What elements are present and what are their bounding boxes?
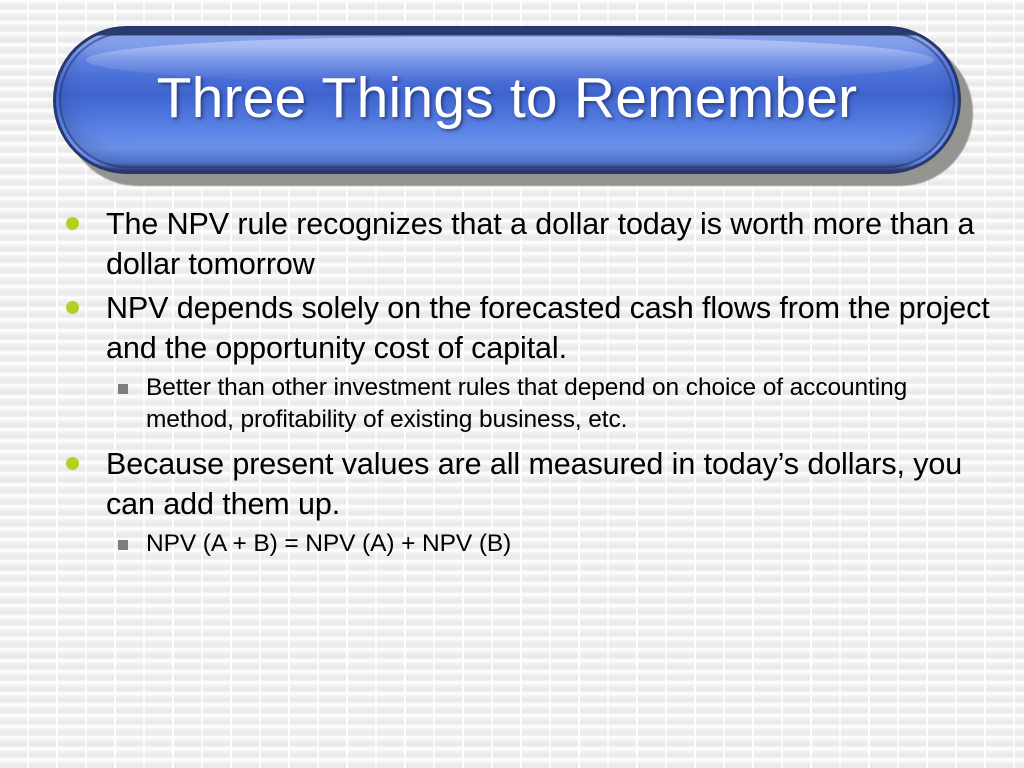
bullet-square-icon bbox=[118, 384, 128, 394]
bullet-item-3: Because present values are all measured … bbox=[58, 444, 998, 524]
sub-bullet-item-1: Better than other investment rules that … bbox=[58, 372, 998, 436]
slide-canvas: Three Things to Remember The NPV rule re… bbox=[0, 0, 1024, 768]
bullet-item-1: The NPV rule recognizes that a dollar to… bbox=[58, 204, 998, 284]
sub-bullet-item-2-text: NPV (A + B) = NPV (A) + NPV (B) bbox=[146, 530, 511, 557]
slide-body: The NPV rule recognizes that a dollar to… bbox=[58, 204, 998, 562]
sub-bullet-item-2: NPV (A + B) = NPV (A) + NPV (B) bbox=[58, 528, 998, 560]
bullet-dot-icon bbox=[66, 217, 79, 230]
bullet-square-icon bbox=[118, 540, 128, 550]
bullet-item-3-text: Because present values are all measured … bbox=[106, 447, 962, 521]
title-banner-capsule: Three Things to Remember bbox=[53, 26, 961, 174]
bullet-item-2-text: NPV depends solely on the forecasted cas… bbox=[106, 291, 990, 365]
page-title: Three Things to Remember bbox=[56, 29, 958, 171]
bullet-dot-icon bbox=[66, 301, 79, 314]
bullet-item-2: NPV depends solely on the forecasted cas… bbox=[58, 288, 998, 368]
title-banner: Three Things to Remember bbox=[53, 26, 973, 186]
bullet-item-1-text: The NPV rule recognizes that a dollar to… bbox=[106, 207, 974, 281]
bullet-dot-icon bbox=[66, 457, 79, 470]
sub-bullet-item-1-text: Better than other investment rules that … bbox=[146, 374, 907, 433]
